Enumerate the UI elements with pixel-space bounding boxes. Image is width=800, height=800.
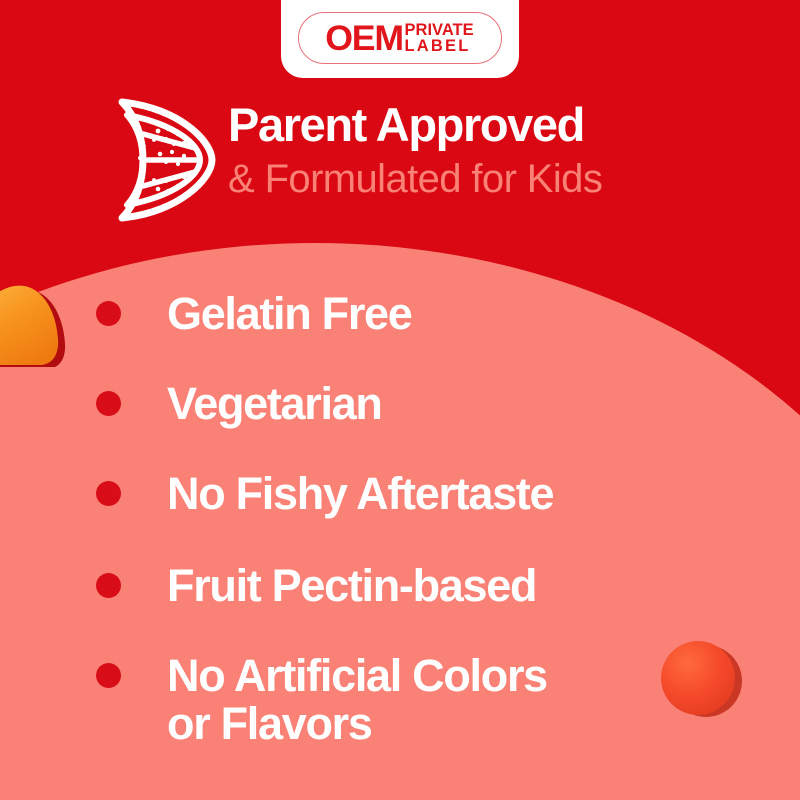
gummy-red-decoration [656, 634, 746, 724]
brand-logo[interactable]: OEM PRIVATE LABEL [298, 12, 502, 64]
logo-label-text: LABEL [405, 39, 474, 55]
infographic-canvas: OEM PRIVATE LABEL [0, 0, 800, 800]
list-item-label: Gelatin Free [167, 290, 412, 338]
list-item-label: Fruit Pectin-based [167, 562, 536, 610]
list-item: No Artificial Colors or Flavors [96, 652, 547, 747]
list-item-label: Vegetarian [167, 380, 382, 428]
bullet-dot-icon [96, 481, 121, 506]
page-subtitle: & Formulated for Kids [228, 158, 602, 200]
list-item: No Fishy Aftertaste [96, 470, 553, 518]
list-item-label: No Fishy Aftertaste [167, 470, 553, 518]
page-title: Parent Approved [228, 100, 584, 149]
citrus-slice-icon [96, 98, 216, 222]
bullet-dot-icon [96, 573, 121, 598]
list-item: Vegetarian [96, 380, 382, 428]
bullet-dot-icon [96, 391, 121, 416]
logo-subtext-stack: PRIVATE LABEL [405, 23, 474, 55]
list-item: Gelatin Free [96, 290, 412, 338]
logo-brand-text: OEM [326, 21, 404, 56]
header-block: Parent Approved & Formulated for Kids [0, 96, 800, 226]
list-item-label: No Artificial Colors or Flavors [167, 652, 547, 747]
bullet-dot-icon [96, 663, 121, 688]
gummy-orange-decoration [0, 279, 66, 367]
bullet-dot-icon [96, 301, 121, 326]
list-item: Fruit Pectin-based [96, 562, 536, 610]
